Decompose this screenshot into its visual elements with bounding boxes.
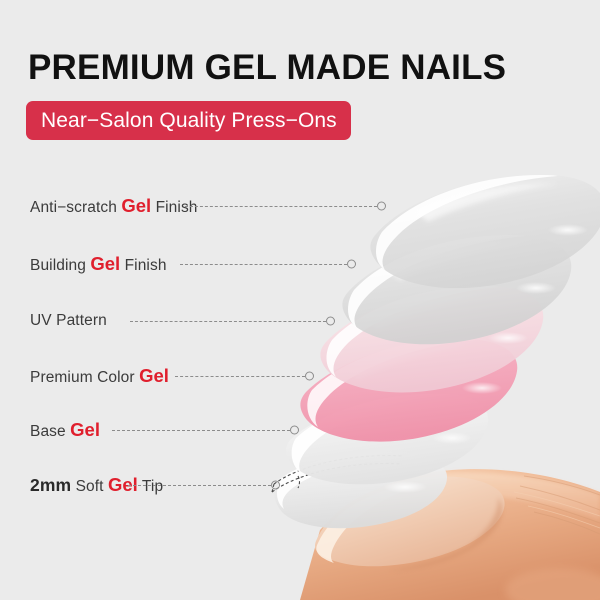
page-title: PREMIUM GEL MADE NAILS xyxy=(28,48,506,88)
leader-line xyxy=(112,430,290,432)
label-text: UV Pattern xyxy=(30,312,107,329)
layer-callout-soft-gel-tip: 2mm Soft Gel Tip xyxy=(30,474,163,496)
layer-label: Building Gel Finish xyxy=(30,255,167,274)
layer-building-gel-finish xyxy=(342,235,571,344)
label-text: Finish xyxy=(120,257,166,274)
gel-accent-word: Gel xyxy=(139,365,169,386)
subtitle-badge: Near−Salon Quality Press−Ons xyxy=(26,101,351,140)
fingertip-photo xyxy=(300,469,600,600)
layer-label: Base Gel xyxy=(30,421,100,440)
label-text: Base xyxy=(30,423,70,440)
leader-endpoint-marker xyxy=(377,202,386,211)
product-infographic: PREMIUM GEL MADE NAILS Near−Salon Qualit… xyxy=(0,0,600,600)
layer-callout-uv-pattern: UV Pattern xyxy=(30,310,107,332)
gel-accent-word: Gel xyxy=(90,253,120,274)
thickness-value: 2mm xyxy=(30,475,71,495)
layer-label: UV Pattern xyxy=(30,313,107,329)
leader-line xyxy=(128,485,271,487)
leader-endpoint-marker xyxy=(326,317,335,326)
gel-accent-word: Gel xyxy=(70,419,100,440)
label-text: Soft xyxy=(71,478,108,495)
label-text: Anti−scratch xyxy=(30,199,121,216)
layer-callout-base-gel: Base Gel xyxy=(30,419,100,441)
label-text: Building xyxy=(30,257,90,274)
leader-line xyxy=(130,321,326,323)
leader-endpoint-marker xyxy=(347,260,356,269)
layer-label: Premium Color Gel xyxy=(30,367,169,386)
layer-premium-color-gel xyxy=(300,339,517,442)
layer-callout-premium-color-gel: Premium Color Gel xyxy=(30,365,169,387)
layer-uv-pattern xyxy=(320,286,543,392)
layer-soft-gel-tip xyxy=(272,452,447,528)
layer-callout-anti-scratch-gel-finish: Anti−scratch Gel Finish xyxy=(30,195,198,217)
layer-base-gel xyxy=(286,394,488,484)
leader-endpoint-marker xyxy=(290,426,299,435)
label-text: Premium Color xyxy=(30,369,139,386)
layer-anti-scratch-gel-finish xyxy=(370,175,600,288)
leader-line xyxy=(180,264,347,266)
leader-endpoint-marker xyxy=(305,372,314,381)
leader-line xyxy=(185,206,377,208)
leader-line xyxy=(175,376,305,378)
layer-callout-building-gel-finish: Building Gel Finish xyxy=(30,253,167,275)
nail-layer-illustration xyxy=(0,0,600,600)
subtitle-text: Near−Salon Quality Press−Ons xyxy=(41,110,337,131)
layer-label: Anti−scratch Gel Finish xyxy=(30,197,198,216)
leader-endpoint-marker xyxy=(271,481,280,490)
gel-accent-word: Gel xyxy=(121,195,151,216)
